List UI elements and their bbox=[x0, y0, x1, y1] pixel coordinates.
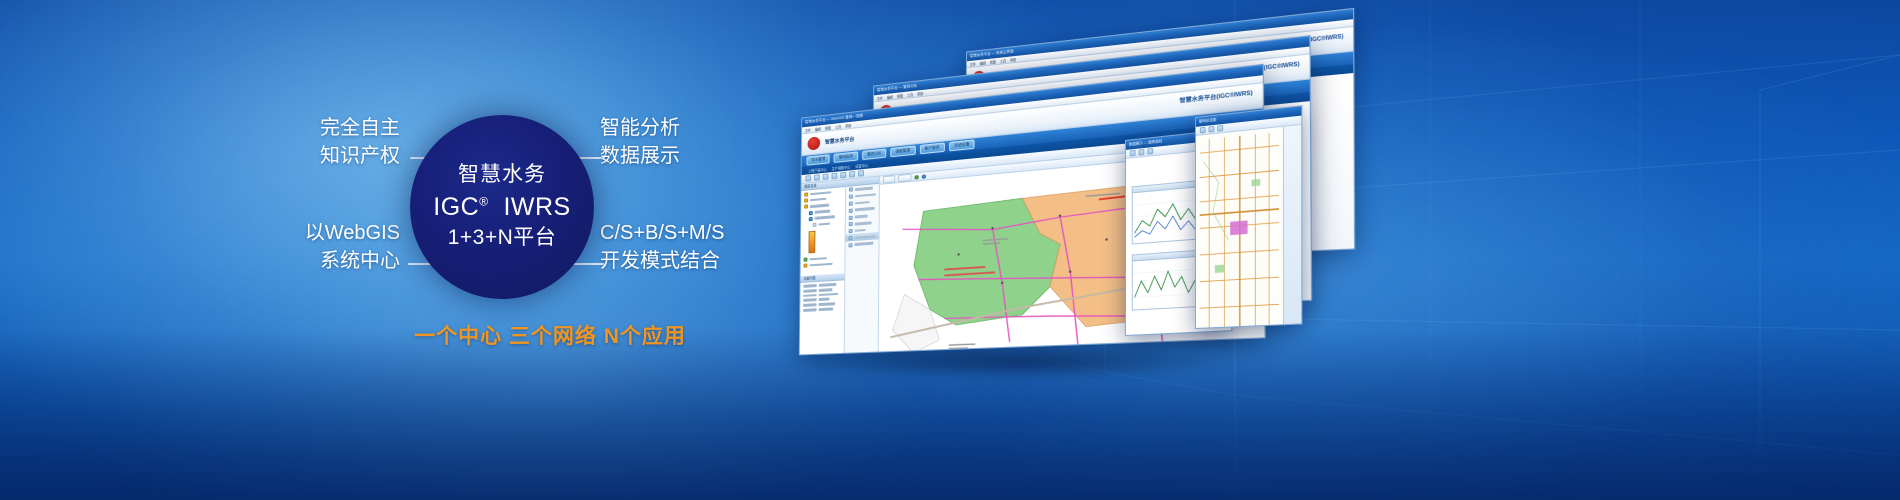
spoke-label-bottom-right: C/S+B/S+M/S 开发模式结合 bbox=[600, 220, 820, 275]
company-logo-icon bbox=[808, 136, 821, 150]
layer-node[interactable] bbox=[804, 261, 842, 268]
menu-item[interactable]: 工具 bbox=[907, 91, 913, 97]
spoke-label-top-left-line1: 完全自主 bbox=[260, 115, 400, 143]
function-item[interactable] bbox=[846, 239, 879, 248]
menu-item[interactable]: 帮助 bbox=[1010, 56, 1016, 62]
menu-item[interactable]: 文件 bbox=[970, 61, 976, 67]
brand-name-front: 智慧水务平台 bbox=[825, 136, 854, 146]
menu-item[interactable]: 视图 bbox=[990, 59, 996, 65]
spoke-label-top-right: 智能分析 数据展示 bbox=[600, 115, 800, 170]
identify-icon[interactable] bbox=[849, 171, 855, 178]
spoke-label-bottom-right-line2: 开发模式结合 bbox=[600, 248, 820, 276]
brand-title-front: 智慧水务平台(IGC®IWRS) bbox=[1180, 89, 1253, 105]
menu-item[interactable]: 文件 bbox=[877, 95, 883, 101]
menu-item[interactable]: 视图 bbox=[825, 125, 831, 131]
menu-item[interactable]: 文件 bbox=[805, 127, 811, 133]
refresh-icon[interactable] bbox=[1130, 150, 1136, 157]
attribute-row bbox=[803, 292, 841, 297]
zoom-out-icon[interactable] bbox=[823, 173, 829, 180]
export-icon[interactable] bbox=[1139, 149, 1145, 156]
layer-tree-panel[interactable]: 图层目录 功能列表 bbox=[800, 180, 846, 356]
zoom-out-icon[interactable] bbox=[1209, 126, 1215, 133]
spoke-label-top-right-line2: 数据展示 bbox=[600, 143, 800, 171]
overview-body bbox=[1196, 125, 1301, 329]
promo-banner: 完全自主 知识产权 以WebGIS 系统中心 智能分析 数据展示 C/S+B/S… bbox=[0, 0, 1900, 500]
hub-brand-igc: IGC bbox=[433, 193, 479, 221]
hub-title-cn: 智慧水务 bbox=[458, 163, 546, 188]
hub-circle: 智慧水务 IGC® IWRS 1+3+N平台 bbox=[410, 115, 594, 299]
layer-tree-lower[interactable] bbox=[801, 253, 845, 270]
attribute-row bbox=[803, 302, 841, 307]
menu-item[interactable]: 工具 bbox=[835, 123, 841, 129]
layer-node[interactable] bbox=[804, 221, 842, 228]
zoom-in-icon[interactable] bbox=[814, 174, 820, 181]
full-extent-icon[interactable] bbox=[1217, 125, 1223, 132]
screenshot-stack: 智慧水务平台 — 系统主界面 文件 编辑 视图 工具 帮助 智慧水务平台 智慧水… bbox=[790, 45, 1350, 375]
titlebar-overview-text: 管网总览图 bbox=[1199, 118, 1216, 125]
spoke-label-top-right-line1: 智能分析 bbox=[600, 115, 800, 143]
map-status-dot-blue bbox=[922, 174, 926, 179]
attribute-row bbox=[803, 288, 841, 293]
menu-item[interactable]: 编辑 bbox=[887, 94, 893, 100]
app-window-overview-map[interactable]: 管网总览图 bbox=[1195, 105, 1302, 329]
hub-brand-iwrs: IWRS bbox=[503, 193, 570, 221]
function-list-panel[interactable] bbox=[845, 177, 880, 355]
subnav-item[interactable]: 运营中心 bbox=[855, 162, 868, 168]
print-icon[interactable] bbox=[858, 170, 864, 177]
spoke-label-bottom-left-line1: 以WebGIS bbox=[250, 220, 400, 248]
overview-sidebar[interactable] bbox=[1283, 125, 1301, 329]
hub-brand: IGC® IWRS bbox=[433, 193, 570, 223]
spoke-label-bottom-right-line1: C/S+B/S+M/S bbox=[600, 220, 820, 248]
menu-item[interactable]: 工具 bbox=[1000, 58, 1006, 64]
spoke-label-top-left-line2: 知识产权 bbox=[260, 143, 400, 171]
overview-map-canvas[interactable] bbox=[1196, 127, 1283, 329]
menu-item[interactable]: 编辑 bbox=[980, 60, 986, 66]
map-status-dot-green bbox=[914, 175, 918, 180]
attribute-row bbox=[803, 297, 841, 302]
menu-item[interactable]: 编辑 bbox=[815, 126, 821, 132]
hub-platform: 1+3+N平台 bbox=[448, 226, 557, 251]
spoke-label-top-left: 完全自主 知识产权 bbox=[260, 115, 400, 170]
pan-icon[interactable] bbox=[805, 175, 811, 182]
tagline: 一个中心 三个网络 N个应用 bbox=[270, 320, 830, 350]
map-tab[interactable] bbox=[883, 175, 896, 183]
registered-icon: ® bbox=[479, 195, 488, 209]
attribute-list[interactable] bbox=[800, 280, 844, 313]
attribute-row bbox=[803, 307, 841, 312]
zoom-in-icon[interactable] bbox=[1200, 127, 1206, 134]
hub-diagram: 完全自主 知识产权 以WebGIS 系统中心 智能分析 数据展示 C/S+B/S… bbox=[270, 95, 810, 325]
menu-item[interactable]: 帮助 bbox=[917, 90, 923, 96]
legend-color-ramp bbox=[808, 231, 815, 254]
map-tab[interactable] bbox=[899, 174, 912, 182]
spoke-label-bottom-left-line2: 系统中心 bbox=[250, 248, 400, 276]
layer-tree[interactable] bbox=[801, 187, 845, 230]
spoke-label-bottom-left: 以WebGIS 系统中心 bbox=[250, 220, 400, 275]
settings-icon[interactable] bbox=[1147, 148, 1153, 155]
menu-item[interactable]: 帮助 bbox=[845, 122, 851, 128]
select-icon[interactable] bbox=[831, 173, 837, 180]
measure-icon[interactable] bbox=[840, 172, 846, 179]
menu-item[interactable]: 视图 bbox=[897, 93, 903, 99]
